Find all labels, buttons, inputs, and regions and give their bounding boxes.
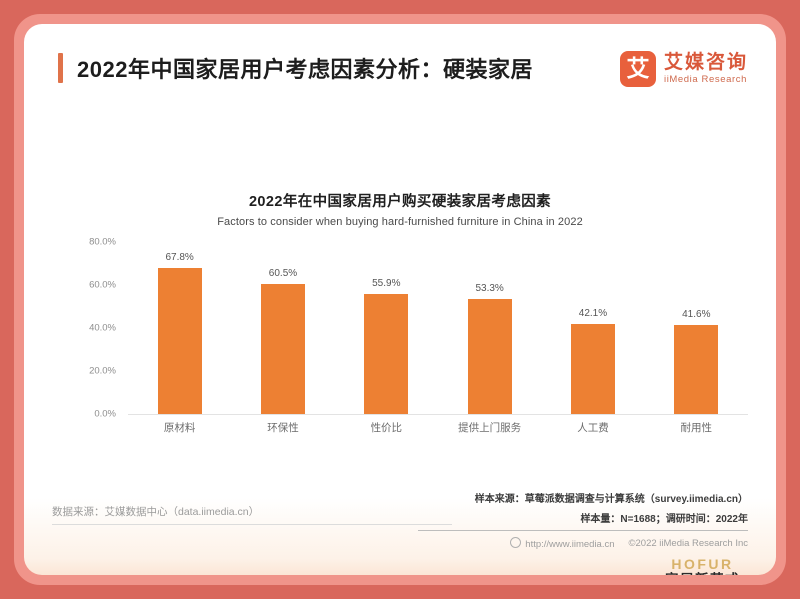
logo-wordmark: 艾媒咨询 iiMedia Research <box>664 53 748 85</box>
bar-value-label: 41.6% <box>682 309 710 320</box>
sample-size: 样本量：N=1688；调研时间：2022年 <box>418 510 748 525</box>
y-axis-tick: 0.0% <box>94 409 116 420</box>
bar-slot: 60.5% <box>232 242 335 414</box>
hofur-name-cn: 家居新范式 <box>665 573 740 575</box>
bar[interactable] <box>261 284 305 414</box>
bar-value-label: 60.5% <box>269 268 297 279</box>
bar-slot: 42.1% <box>542 242 645 414</box>
chart-subtitle: Factors to consider when buying hard-fur… <box>24 216 776 228</box>
y-axis-tick: 60.0% <box>89 280 116 291</box>
copyright-text: ©2022 iiMedia Research Inc <box>629 538 748 549</box>
bar[interactable] <box>364 294 408 414</box>
bar-slot: 55.9% <box>335 242 438 414</box>
bar-slot: 67.8% <box>128 242 231 414</box>
bar[interactable] <box>158 268 202 414</box>
plot-area: 67.8%60.5%55.9%53.3%42.1%41.6% <box>128 242 748 415</box>
logo-name-cn: 艾媒咨询 <box>664 53 748 73</box>
hofur-name-en: HOFUR <box>665 557 740 572</box>
bar[interactable] <box>571 324 615 415</box>
website-url-text: http://www.iimedia.cn <box>525 539 614 550</box>
iimedia-logo-icon: 艾 <box>620 51 656 87</box>
bar-value-label: 55.9% <box>372 278 400 289</box>
website-url: http://www.iimedia.cn <box>510 536 614 550</box>
bar-slot: 41.6% <box>645 242 748 414</box>
bar-slot: 53.3% <box>438 242 541 414</box>
x-axis-label: 耐用性 <box>645 420 748 435</box>
x-axis-label: 环保性 <box>232 420 335 435</box>
page-title: 2022年中国家居用户考虑因素分析：硬装家居 <box>58 52 533 84</box>
y-axis-tick: 40.0% <box>89 323 116 334</box>
report-card: 2022年中国家居用户考虑因素分析：硬装家居 艾 艾媒咨询 iiMedia Re… <box>24 24 776 575</box>
brand-logo: 艾 艾媒咨询 iiMedia Research <box>620 51 748 87</box>
bar-chart: 80.0%60.0%40.0%20.0%0.0% 67.8%60.5%55.9%… <box>76 242 748 442</box>
y-axis: 80.0%60.0%40.0%20.0%0.0% <box>76 242 124 414</box>
poster-background: 2022年中国家居用户考虑因素分析：硬装家居 艾 艾媒咨询 iiMedia Re… <box>0 0 800 599</box>
title-accent-bar <box>58 53 63 83</box>
y-axis-tick: 80.0% <box>89 237 116 248</box>
globe-icon <box>510 537 521 548</box>
logo-name-en: iiMedia Research <box>664 75 748 85</box>
x-axis-label: 性价比 <box>335 420 438 435</box>
sample-source: 样本来源：草莓派数据调查与计算系统（survey.iimedia.cn） <box>418 490 748 505</box>
data-source-note: 数据来源：艾媒数据中心（data.iimedia.cn） <box>52 504 452 525</box>
sample-info: 样本来源：草莓派数据调查与计算系统（survey.iimedia.cn） 样本量… <box>418 490 748 550</box>
x-axis-label: 提供上门服务 <box>438 420 541 435</box>
bar-series: 67.8%60.5%55.9%53.3%42.1%41.6% <box>128 242 748 414</box>
x-axis-label: 人工费 <box>542 420 645 435</box>
page-title-text: 2022年中国家居用户考虑因素分析：硬装家居 <box>77 52 533 84</box>
copyright-row: http://www.iimedia.cn ©2022 iiMedia Rese… <box>418 530 748 550</box>
bar-value-label: 53.3% <box>475 283 503 294</box>
bar-value-label: 42.1% <box>579 308 607 319</box>
bar[interactable] <box>674 325 718 414</box>
chart-title: 2022年在中国家居用户购买硬装家居考虑因素 <box>24 190 776 211</box>
y-axis-tick: 20.0% <box>89 366 116 377</box>
x-axis: 原材料环保性性价比提供上门服务人工费耐用性 <box>128 420 748 435</box>
bar[interactable] <box>468 299 512 414</box>
hofur-brand: HOFUR 家居新范式 <box>665 557 740 575</box>
header: 2022年中国家居用户考虑因素分析：硬装家居 艾 艾媒咨询 iiMedia Re… <box>24 24 776 102</box>
bar-value-label: 67.8% <box>165 252 193 263</box>
x-axis-label: 原材料 <box>128 420 231 435</box>
